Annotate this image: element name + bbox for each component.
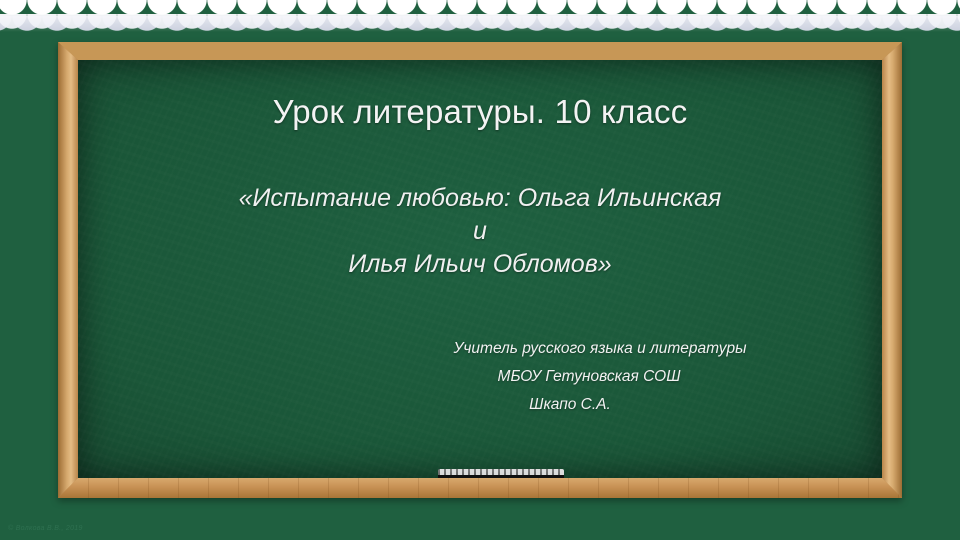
subtitle-line-3: Илья Ильич Обломов» [178,248,782,281]
chalkboard-eraser [438,474,564,478]
author-role: Учитель русского языка и литературы [378,335,822,363]
eraser-felt [438,469,564,475]
author-block: Учитель русского языка и литературы МБОУ… [378,335,822,420]
slide-subtitle: «Испытание любовью: Ольга Ильинская и Ил… [178,182,782,281]
author-name: Шкапо С.А. [378,391,822,419]
subtitle-line-1: «Испытание любовью: Ольга Ильинская [178,182,782,215]
chalkboard: Урок литературы. 10 класс «Испытание люб… [58,42,902,498]
presentation-slide: Урок литературы. 10 класс «Испытание люб… [0,0,960,540]
author-school: МБОУ Гетуновская СОШ [378,363,822,391]
chalkboard-surface: Урок литературы. 10 класс «Испытание люб… [78,60,882,478]
scalloped-valance [0,0,960,46]
slide-title: Урок литературы. 10 класс [78,93,882,131]
copyright-watermark: © Волкова В.В., 2019 [8,525,83,532]
subtitle-line-2: и [178,215,782,248]
scallop-row-front [0,0,960,30]
